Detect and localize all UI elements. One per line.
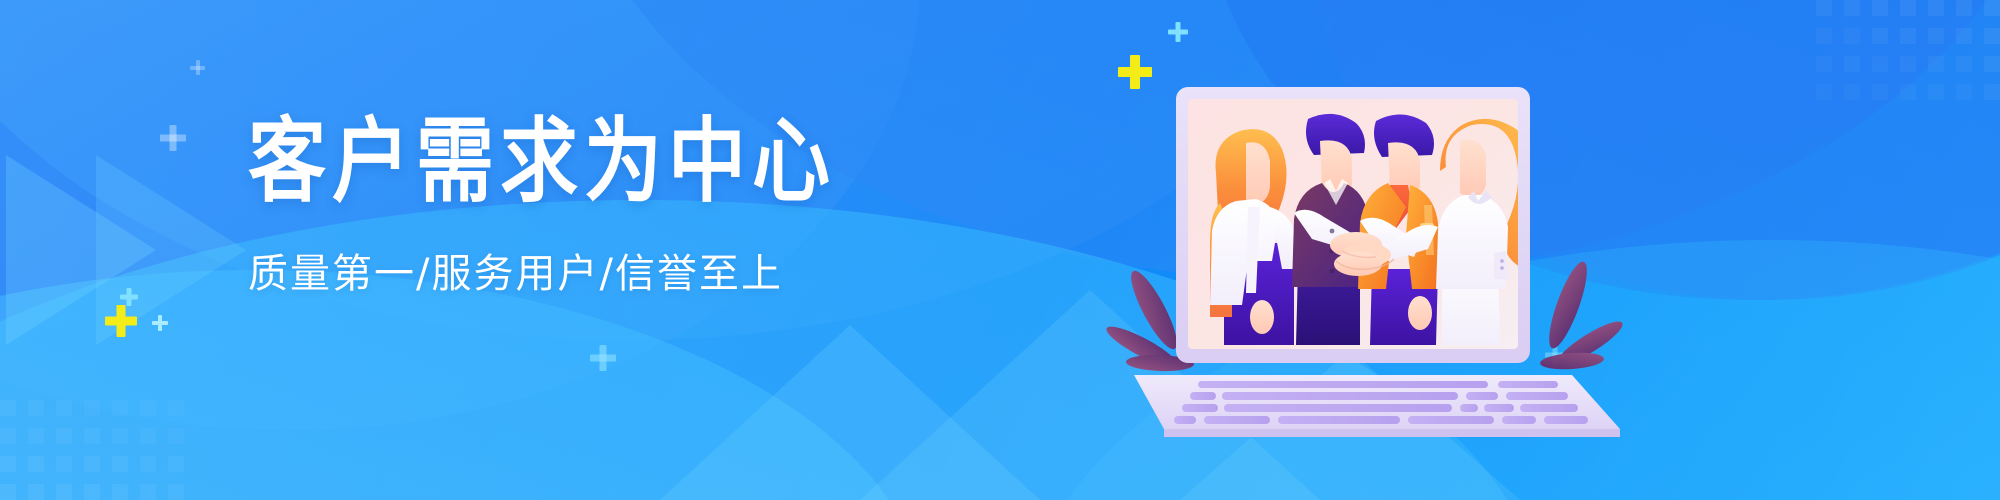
plus-cyan-midleft bbox=[120, 288, 138, 306]
grid-dot bbox=[84, 484, 100, 500]
grid-dot bbox=[0, 484, 16, 500]
grid-dot bbox=[112, 428, 128, 444]
plus-yellow-bottom bbox=[105, 305, 137, 337]
grid-dot bbox=[56, 400, 72, 416]
grid-dot bbox=[1872, 0, 1888, 16]
grid-dot bbox=[112, 484, 128, 500]
grid-dot bbox=[168, 456, 184, 472]
grid-dot bbox=[1956, 28, 1972, 44]
dot-grid-bottom-left bbox=[0, 370, 190, 500]
grid-dot bbox=[1816, 56, 1832, 72]
grid-dot bbox=[1844, 84, 1860, 100]
grid-dot bbox=[168, 428, 184, 444]
grid-dot bbox=[1816, 0, 1832, 16]
grid-dot bbox=[28, 484, 44, 500]
grid-dot bbox=[0, 456, 16, 472]
grid-dot bbox=[0, 428, 16, 444]
grid-dot bbox=[1900, 0, 1916, 16]
grid-dot bbox=[1984, 0, 2000, 16]
grid-dot bbox=[0, 400, 16, 416]
grid-dot bbox=[140, 400, 156, 416]
dot-grid-top-right bbox=[1790, 0, 2000, 120]
laptop-illustration bbox=[1120, 55, 1640, 455]
grid-dot bbox=[28, 456, 44, 472]
grid-dot bbox=[168, 400, 184, 416]
grid-dot bbox=[1900, 28, 1916, 44]
plus-cyan-small bbox=[1168, 22, 1188, 42]
grid-dot bbox=[84, 400, 100, 416]
leaf-frond-right bbox=[1540, 258, 1627, 371]
grid-dot bbox=[28, 428, 44, 444]
grid-dot bbox=[112, 400, 128, 416]
grid-dot bbox=[1816, 84, 1832, 100]
grid-dot bbox=[56, 456, 72, 472]
grid-dot bbox=[1956, 84, 1972, 100]
grid-dot bbox=[1928, 56, 1944, 72]
promo-banner: 客户需求为中心 质量第一/服务用户/信誉至上 bbox=[0, 0, 2000, 500]
grid-dot bbox=[1956, 0, 1972, 16]
banner-headline: 客户需求为中心 bbox=[248, 108, 948, 217]
grid-dot bbox=[84, 456, 100, 472]
grid-dot bbox=[1872, 28, 1888, 44]
grid-dot bbox=[140, 428, 156, 444]
grid-dot bbox=[56, 428, 72, 444]
grid-dot bbox=[1928, 84, 1944, 100]
grid-dot bbox=[1844, 28, 1860, 44]
grid-dot bbox=[168, 484, 184, 500]
grid-dot bbox=[1844, 56, 1860, 72]
grid-dot bbox=[1984, 56, 2000, 72]
grid-dot bbox=[112, 456, 128, 472]
laptop-base-edge bbox=[1164, 429, 1620, 437]
grid-dot bbox=[1844, 0, 1860, 16]
grid-dot bbox=[140, 456, 156, 472]
plus-cyan-center bbox=[590, 345, 616, 371]
grid-dot bbox=[1900, 84, 1916, 100]
plus-white-faint bbox=[190, 60, 205, 75]
grid-dot bbox=[1900, 56, 1916, 72]
grid-dot bbox=[1872, 84, 1888, 100]
banner-text-block: 客户需求为中心 质量第一/服务用户/信誉至上 bbox=[248, 108, 948, 300]
plus-cyan-bottom bbox=[152, 315, 168, 331]
grid-dot bbox=[1816, 28, 1832, 44]
grid-dot bbox=[1928, 28, 1944, 44]
grid-dot bbox=[56, 484, 72, 500]
grid-dot bbox=[1984, 84, 2000, 100]
grid-dot bbox=[140, 484, 156, 500]
grid-dot bbox=[28, 400, 44, 416]
plus-white-top bbox=[160, 125, 186, 151]
grid-dot bbox=[84, 428, 100, 444]
grid-dot bbox=[1984, 28, 2000, 44]
grid-dot bbox=[1956, 56, 1972, 72]
grid-dot bbox=[1872, 56, 1888, 72]
grid-dot bbox=[1928, 0, 1944, 16]
